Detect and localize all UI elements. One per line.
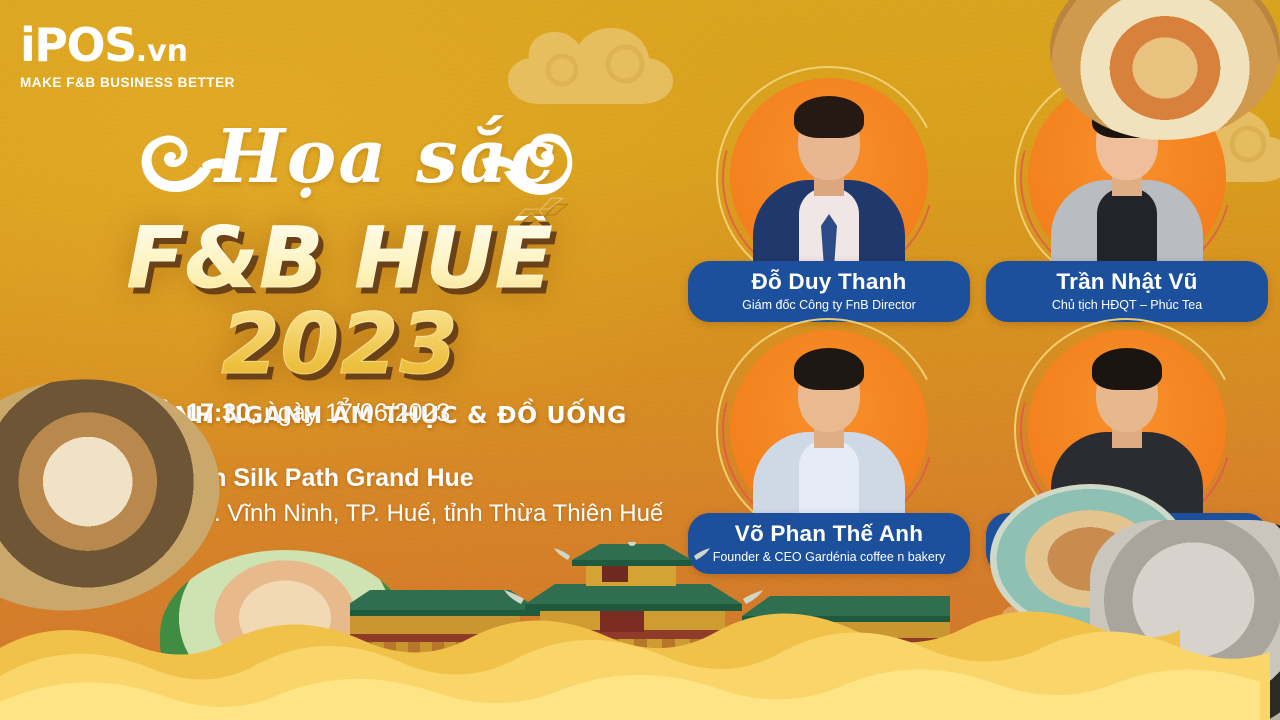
speaker-name: Đỗ Duy Thanh xyxy=(698,269,960,295)
swirl-ornament-right-icon xyxy=(480,126,580,202)
speaker-role: Giám đốc Công ty Retail Hub xyxy=(996,550,1258,565)
venue-address: 2 Lê Lợi, P. Vĩnh Ninh, TP. Huế, tỉnh Th… xyxy=(100,498,663,530)
cloud-ornament-bottom-right xyxy=(985,598,1095,660)
script-title-row: Họa sắc xyxy=(0,118,680,214)
info-row-time: 08:30 - 17:30, ngày 17/06/2023 xyxy=(48,398,688,440)
logo-tagline: MAKE F&B BUSINESS BETTER xyxy=(20,75,235,90)
speaker-badge[interactable]: Trần Nhật Vũ Chủ tịch HĐQT – Phúc Tea xyxy=(986,261,1268,322)
food-image-banh-bot-loc xyxy=(160,550,410,720)
cloud-ornament-bottom-left xyxy=(255,550,395,630)
info-row-venue: Khách sạn Silk Path Grand Hue 2 Lê Lợi, … xyxy=(48,462,688,530)
speaker-role: Chủ tịch HĐQT – Phúc Tea xyxy=(996,298,1258,313)
hero-block: Họa sắc F&B HUẾ 2023 TOÀN CẢNH NGÀNH ẨM … xyxy=(0,118,680,429)
cloud-scallop-border xyxy=(0,580,1280,720)
speaker-role: Giám đốc Công ty FnB Director xyxy=(698,298,960,313)
event-info: 08:30 - 17:30, ngày 17/06/2023 Khách sạn… xyxy=(48,398,688,552)
info-venue-text: Khách sạn Silk Path Grand Hue 2 Lê Lợi, … xyxy=(100,462,663,530)
calendar-icon xyxy=(48,398,100,440)
speaker-role: Founder & CEO Gardénia coffee n bakery xyxy=(698,550,960,565)
time-line: 08:30 - 17:30, ngày 17/06/2023 xyxy=(100,398,450,429)
portrait-hair xyxy=(1092,96,1162,138)
info-time-text: 08:30 - 17:30, ngày 17/06/2023 xyxy=(100,398,450,429)
speaker-portrait xyxy=(1028,330,1226,540)
speaker-name: Võ Phan Thế Anh xyxy=(698,521,960,547)
portrait-hair xyxy=(1092,348,1162,390)
speaker-name: Trần Nhật Vũ xyxy=(996,269,1258,295)
speakers-grid: Đỗ Duy Thanh Giám đốc Công ty FnB Direct… xyxy=(688,72,1268,574)
speaker-card[interactable]: Trần Nhật Vũ Chủ tịch HĐQT – Phúc Tea xyxy=(986,72,1268,322)
portrait-hair xyxy=(794,348,864,390)
speakers-panel: Đỗ Duy Thanh Giám đốc Công ty FnB Direct… xyxy=(688,72,1268,574)
speaker-card[interactable]: Đỗ Duy Thanh Giám đốc Công ty FnB Direct… xyxy=(688,72,970,322)
speaker-badge[interactable]: Võ Phan Thế Anh Founder & CEO Gardénia c… xyxy=(688,513,970,574)
speaker-portrait xyxy=(1028,78,1226,288)
speaker-card[interactable]: Phùng Thanh Ngọc Giám đốc Công ty Retail… xyxy=(986,324,1268,574)
cloud-ornament-top-left xyxy=(500,18,710,128)
ipos-logo: iPOS.vn MAKE F&B BUSINESS BETTER xyxy=(20,22,235,90)
venue-name: Khách sạn Silk Path Grand Hue xyxy=(100,462,663,495)
speaker-portrait xyxy=(730,330,928,540)
logo-suffix: .vn xyxy=(136,34,188,69)
portrait-hair xyxy=(794,96,864,138)
speaker-badge[interactable]: Đỗ Duy Thanh Giám đốc Công ty FnB Direct… xyxy=(688,261,970,322)
event-poster: iPOS.vn MAKE F&B BUSINESS BETTER Họa sắc… xyxy=(0,0,1280,720)
time-range: 08:30 - 17:30 xyxy=(100,399,250,427)
main-title: F&B HUẾ 2023 xyxy=(0,216,680,387)
speaker-name: Phùng Thanh Ngọc xyxy=(996,521,1258,547)
logo-text: iPOS xyxy=(20,18,136,72)
speaker-badge[interactable]: Phùng Thanh Ngọc Giám đốc Công ty Retail… xyxy=(986,513,1268,574)
time-date: , ngày 17/06/2023 xyxy=(250,399,450,427)
speaker-portrait xyxy=(730,78,928,288)
location-pin-icon xyxy=(48,462,100,510)
logo-wordmark: iPOS.vn xyxy=(20,22,235,68)
speaker-card[interactable]: Võ Phan Thế Anh Founder & CEO Gardénia c… xyxy=(688,324,970,574)
